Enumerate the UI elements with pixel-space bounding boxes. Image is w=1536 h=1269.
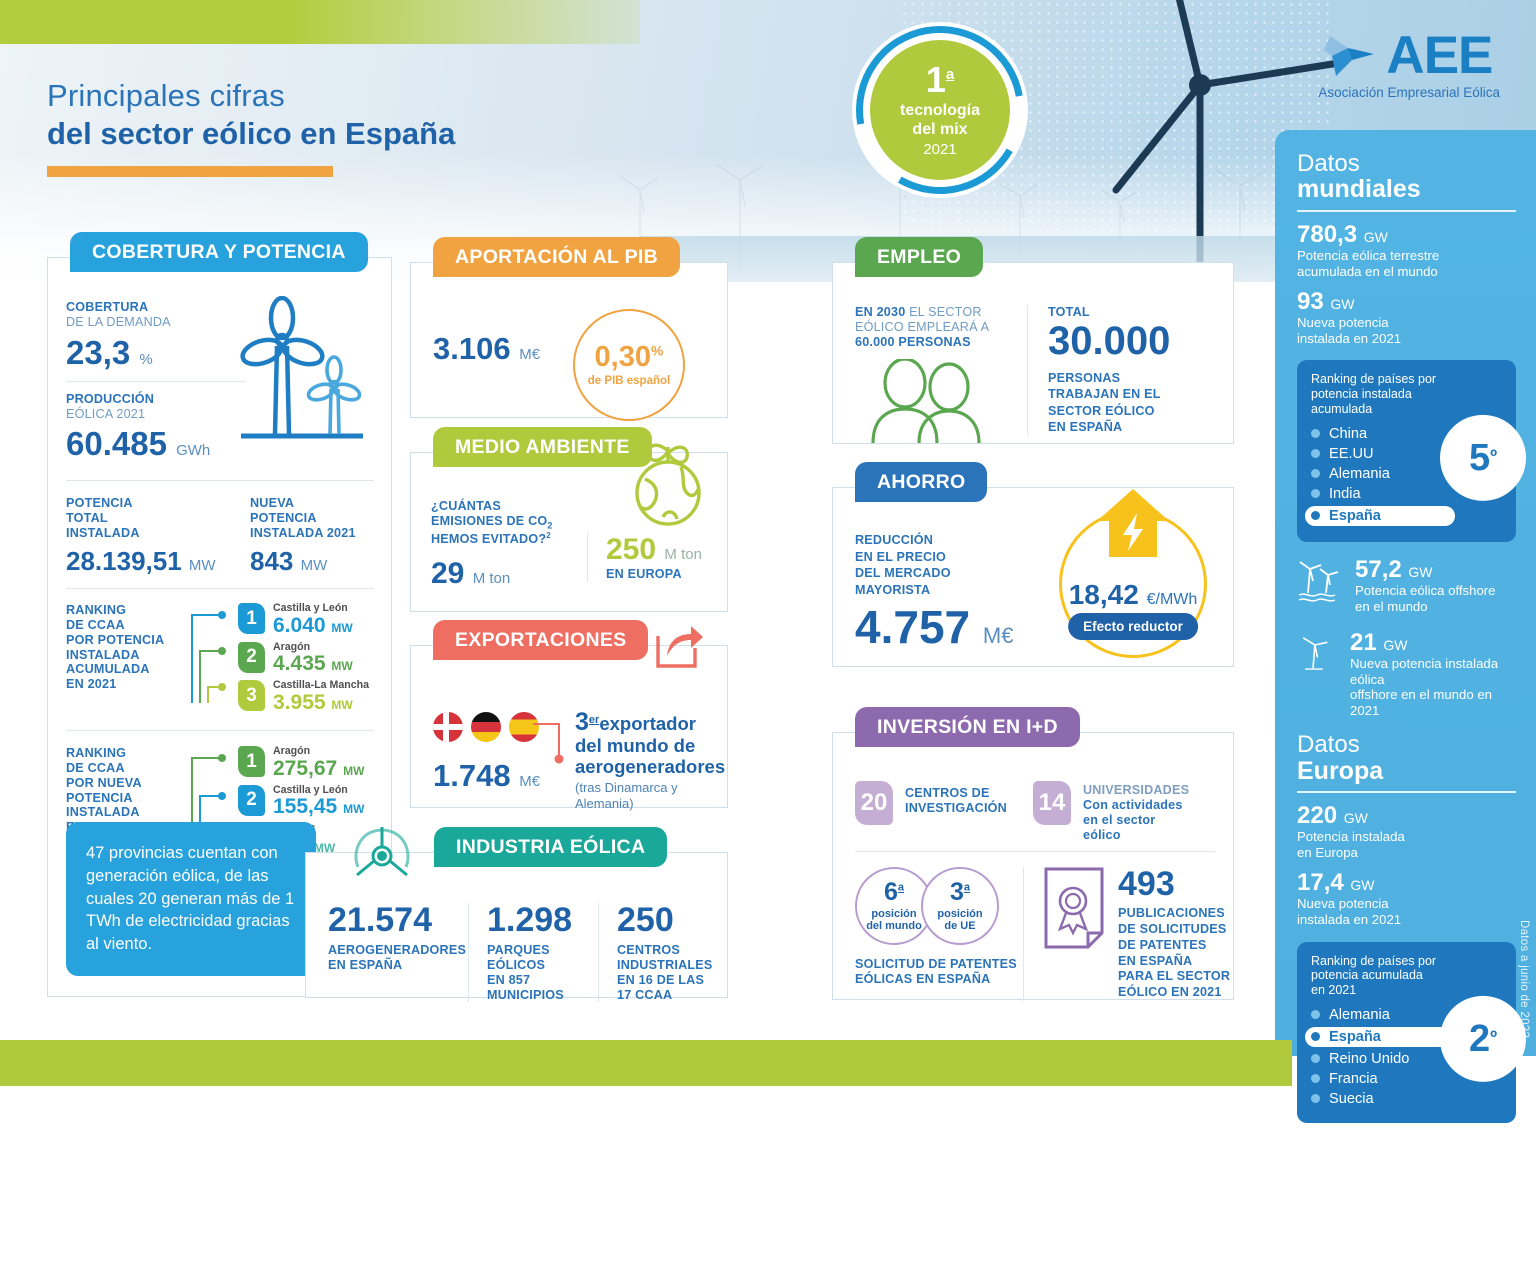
flags-row (433, 712, 539, 742)
bullet-dot-icon (1311, 469, 1320, 478)
rank-value: 4.435 MW (273, 653, 353, 675)
industria-label-2: PARQUES EÓLICOS EN 857 MUNICIPIOS (487, 943, 598, 1002)
title-line-1: Principales cifras (47, 78, 455, 114)
value-nueva-potencia: 843 MW (250, 548, 380, 574)
posicion-ue-text: posición de UE (937, 908, 982, 932)
rank-value: 3.955 MW (273, 692, 369, 714)
publicaciones-value: 493 (1118, 867, 1230, 901)
europa-stat-2-value: 17,4 GW (1297, 870, 1516, 895)
logo-text: AEE (1386, 32, 1492, 80)
europa-country-2-highlight: España (1305, 1027, 1455, 1047)
aee-mark-icon (1318, 30, 1380, 82)
mundial-ranking-title: Ranking de países por potencia instalada… (1311, 372, 1502, 416)
export-rank-text: 3erexportador del mundo de aerogenerador… (575, 708, 711, 777)
label-ranking-acumulada-light: POR POTENCIA INSTALADA ACUMULADA EN 2021 (66, 633, 176, 692)
empleo-total-value: 30.000 (1048, 320, 1217, 362)
divider (66, 588, 374, 589)
cobertura-demanda-bold: COBERTURA (66, 300, 148, 314)
mundial-offshore-1-text: Potencia eólica offshore en el mundo (1355, 583, 1496, 615)
rank-position: 1 (238, 746, 265, 777)
value-pib: 3.106 M€ (433, 333, 540, 364)
sidebar-europa-title-2: Europa (1297, 758, 1516, 784)
europa-ranking-title: Ranking de países por potencia acumulada… (1311, 954, 1502, 998)
card-ahorro: AHORRO REDUCCIÓN EN EL PRECIO DEL MERCAD… (832, 487, 1234, 667)
industria-label-1: AEROGENERADORES EN ESPAÑA (328, 943, 468, 973)
universidades-label: UNIVERSIDADES (1083, 783, 1189, 798)
mundial-offshore-2: 21 GW Nueva potencia instalada eólica of… (1297, 630, 1516, 720)
people-icon (863, 359, 993, 443)
mundial-ranking-box: Ranking de países por potencia instalada… (1297, 360, 1516, 541)
sidebar-mundiales-title-1: Datos (1297, 152, 1516, 176)
tab-medio-ambiente: MEDIO AMBIENTE (433, 427, 652, 467)
card-medio-ambiente: MEDIO AMBIENTE ¿CUÁNTAS EMISIONES DE CO2… (410, 452, 728, 612)
divider (1297, 210, 1516, 212)
patentes-caption: SOLICITUD DE PATENTES EÓLICAS EN ESPAÑA (855, 957, 1017, 987)
bullet-dot-icon (1311, 511, 1320, 520)
label-ranking-nueva-bold: RANKING DE CCAA (66, 746, 176, 776)
tab-empleo: EMPLEO (855, 237, 983, 277)
mundial-country-3: Alemania (1311, 466, 1502, 482)
offshore-turbines-icon (1297, 557, 1343, 603)
ranking-acumulada-list: 1 Castilla y León 6.040 MW 2 Aragón 4.43… (238, 603, 369, 719)
europa-offshore-2: 3,3 GW Nueva potencia instalada eólica o… (1297, 1211, 1516, 1269)
badge-line-2: del mix (900, 121, 980, 140)
export-rank-note: (tras Dinamarca y Alemania) (575, 780, 711, 811)
green-band (0, 0, 640, 44)
ahorro-circle-value: 18,42 €/MWh (1062, 579, 1204, 611)
rank-item: 2 Aragón 4.435 MW (238, 642, 369, 676)
divider (1297, 791, 1516, 793)
bottom-green-bar (0, 1040, 1292, 1086)
europa-stat-1-value: 220 GW (1297, 803, 1516, 828)
value-potencia-total: 28.139,51 MW (66, 548, 216, 574)
mundial-country-4: India (1311, 486, 1502, 502)
tab-ahorro: AHORRO (855, 462, 987, 502)
denmark-flag-icon (433, 712, 463, 742)
europa-country-3: Reino Unido (1311, 1051, 1502, 1067)
mundial-offshore-1: 57,2 GW Potencia eólica offshore en el m… (1297, 557, 1516, 615)
posicion-mundo-value: 6a (884, 880, 904, 905)
divider (66, 730, 374, 731)
badge-core: 1a tecnología del mix 2021 (870, 40, 1010, 180)
value-co2-evitado: 29 M ton (431, 559, 581, 589)
connector-lines-icon (186, 603, 228, 713)
label-potencia-total-bold: POTENCIA TOTAL (66, 496, 216, 526)
ahorro-value: 4.757 M€ (855, 604, 1013, 650)
europa-offshore-2-value: 3,3 GW (1355, 1211, 1505, 1236)
label-co2-europa: EN EUROPA (606, 567, 702, 582)
europa-country-4: Francia (1311, 1071, 1502, 1087)
card-industria-eolica: INDUSTRIA EÓLICA 21.574 AEROGENERADORES … (305, 852, 728, 998)
pib-percent-caption: de PIB español (588, 375, 670, 387)
value-exportaciones: 1.748 M€ (433, 760, 540, 791)
wind-turbines-illustration (233, 296, 369, 462)
value-co2-europa: 250 M ton (606, 533, 702, 567)
divider (66, 381, 246, 382)
posicion-ue-circle: 3a posición de UE (921, 867, 999, 945)
europa-offshore-1-value: 28,3 GW (1355, 1138, 1496, 1163)
rank-value: 275,67 MW (273, 758, 364, 780)
industria-label-3: CENTROS INDUSTRIALES EN 16 DE LAS 17 CCA… (617, 943, 718, 1002)
posicion-ue-value: 3a (950, 880, 970, 905)
empleo-total-label: TOTAL (1048, 305, 1217, 320)
ahorro-circle: 18,42 €/MWh Efecto reductor (1059, 510, 1207, 658)
bullet-dot-icon (1311, 429, 1320, 438)
card-inversion-id: INVERSIÓN EN I+D 20 CENTROS DE INVESTIGA… (832, 732, 1234, 1000)
efecto-reductor-pill: Efecto reductor (1068, 613, 1198, 640)
aee-logo: AEE Asociación Empresarial Eólica (1318, 30, 1500, 100)
industria-value-2: 1.298 (487, 903, 598, 937)
label-potencia-total-light: INSTALADA (66, 526, 216, 541)
bullet-dot-icon (1311, 489, 1320, 498)
offshore-turbines-icon (1297, 1138, 1343, 1184)
posicion-mundo-text: posición del mundo (866, 908, 922, 932)
value-cobertura-demanda: 23,3 % (66, 336, 246, 369)
ahorro-label: REDUCCIÓN EN EL PRECIO DEL MERCADO MAYOR… (855, 532, 951, 598)
sidebar-datos: Datos mundiales 780,3 GW Potencia eólica… (1275, 130, 1536, 1056)
value-produccion: 60.485 GWh (66, 427, 246, 460)
label-nueva-potencia-bold: NUEVA POTENCIA (250, 496, 380, 526)
co2-question-bold: ¿CUÁNTAS EMISIONES DE CO2 (431, 499, 581, 531)
turbine-icon (1297, 1211, 1343, 1257)
europa-country-1: Alemania (1311, 1007, 1502, 1023)
divider (66, 480, 374, 481)
mundial-offshore-2-text: Nueva potencia instalada eólica offshore… (1350, 656, 1516, 719)
export-share-icon (653, 622, 705, 670)
tab-inversion-id: INVERSIÓN EN I+D (855, 707, 1080, 747)
mundial-stat-2-text: Nueva potencia instalada en 2021 (1297, 315, 1516, 347)
rank-item: 3 Castilla-La Mancha 3.955 MW (238, 680, 369, 714)
tab-cobertura: COBERTURA Y POTENCIA (70, 232, 368, 272)
card-empleo: EMPLEO EN 2030 EL SECTOR EÓLICO EMPLEARÁ… (832, 262, 1234, 444)
connector-line-icon (533, 718, 567, 766)
empleo-note: EN 2030 EL SECTOR EÓLICO EMPLEARÁ A 60.0… (855, 305, 1013, 350)
sidebar-europa-title-1: Datos (1297, 733, 1516, 757)
bullet-dot-icon (1311, 449, 1320, 458)
rank-item: 1 Castilla y León 6.040 MW (238, 603, 369, 637)
label-ranking-acumulada-bold: RANKING DE CCAA (66, 603, 176, 633)
rank-value: 6.040 MW (273, 615, 353, 637)
badge-year: 2021 (923, 141, 956, 158)
badge-line-1: tecnología (900, 102, 980, 121)
note-provincias: 47 provincias cuentan con generación eól… (66, 822, 316, 976)
universidades-count: 14 (1033, 781, 1071, 825)
patent-certificate-icon (1042, 867, 1106, 951)
empleo-total-text: PERSONAS TRABAJAN EN EL SECTOR EÓLICO EN… (1048, 370, 1217, 435)
rank-position: 1 (238, 603, 265, 634)
mundial-country-5-highlight: España (1305, 506, 1455, 526)
produccion-light: EÓLICA 2021 (66, 407, 145, 421)
badge-text: tecnología del mix (900, 102, 980, 140)
logo-row: AEE (1318, 30, 1500, 82)
pib-percentage-circle: 0,30% de PIB español (573, 309, 685, 421)
europa-stat-2-text: Nueva potencia instalada en 2021 (1297, 896, 1516, 928)
rank-item: 1 Aragón 275,67 MW (238, 746, 364, 780)
sidebar-mundiales-title-2: mundiales (1297, 176, 1516, 202)
logo-tagline: Asociación Empresarial Eólica (1318, 85, 1500, 100)
mundial-offshore-2-value: 21 GW (1350, 630, 1516, 655)
bullet-dot-icon (1311, 1054, 1320, 1063)
earth-plant-icon (623, 431, 713, 531)
co2-question-light: HEMOS EVITADO?2 (431, 531, 581, 547)
centros-investigacion-count: 20 (855, 781, 893, 825)
mundial-stat-1-value: 780,3 GW (1297, 222, 1516, 247)
germany-flag-icon (471, 712, 501, 742)
centros-investigacion-label: CENTROS DE INVESTIGACIÓN (905, 786, 1007, 816)
title-underline (47, 166, 333, 177)
label-produccion: PRODUCCIÓN EÓLICA 2021 (66, 392, 246, 422)
badge-rank: 1a (926, 62, 954, 98)
rank-position: 2 (238, 785, 265, 816)
page-title: Principales cifras del sector eólico en … (47, 78, 455, 177)
turbine-icon (1297, 630, 1338, 676)
pib-percent: 0,30% (595, 343, 664, 372)
mundial-stat-2-value: 93 GW (1297, 289, 1516, 314)
bullet-dot-icon (1311, 1074, 1320, 1083)
tab-exportaciones: EXPORTACIONES (433, 620, 648, 660)
universidades-sub: Con actividades en el sector eólico (1083, 798, 1189, 843)
rank-position: 3 (238, 680, 265, 711)
house-lightning-icon (1095, 487, 1171, 559)
rank-item: 2 Castilla y León 155,45 MW (238, 785, 364, 819)
europa-offshore-2-text: Nueva potencia instalada eólica offshore… (1355, 1237, 1505, 1269)
bullet-dot-icon (1311, 1032, 1320, 1041)
card-aportacion-pib: APORTACIÓN AL PIB 3.106 M€ 0,30% de PIB … (410, 262, 728, 418)
europa-country-5: Suecia (1311, 1091, 1502, 1107)
europa-stat-1-text: Potencia instalada en Europa (1297, 829, 1516, 861)
rank-position: 2 (238, 642, 265, 673)
industria-value-3: 250 (617, 903, 718, 937)
tab-pib: APORTACIÓN AL PIB (433, 237, 680, 277)
rank-value: 155,45 MW (273, 796, 364, 818)
europa-ranking-box: Ranking de países por potencia acumulada… (1297, 942, 1516, 1123)
europa-offshore-1: 28,3 GW Potencia eólica offshore instala… (1297, 1138, 1516, 1196)
europa-offshore-1-text: Potencia eólica offshore instalada en Eu… (1355, 1164, 1496, 1196)
bullet-dot-icon (1311, 1094, 1320, 1103)
title-line-2: del sector eólico en España (47, 116, 455, 152)
bullet-dot-icon (1311, 1010, 1320, 1019)
mundial-country-2: EE.UU (1311, 446, 1502, 462)
produccion-bold: PRODUCCIÓN (66, 392, 154, 406)
tab-industria: INDUSTRIA EÓLICA (434, 827, 667, 867)
publicaciones-label: PUBLICACIONES DE SOLICITUDES DE PATENTES… (1118, 906, 1230, 1001)
industria-value-1: 21.574 (328, 903, 468, 937)
divider (855, 851, 1215, 852)
cobertura-demanda-light: DE LA DEMANDA (66, 315, 171, 329)
turbine-circular-icon (344, 821, 420, 891)
first-technology-badge: 1a tecnología del mix 2021 (852, 22, 1028, 198)
mundial-offshore-1-value: 57,2 GW (1355, 557, 1496, 582)
label-cobertura-demanda: COBERTURA DE LA DEMANDA (66, 300, 246, 330)
card-exportaciones: EXPORTACIONES 1.748 M€ 3erexportador del… (410, 645, 728, 808)
label-nueva-potencia-light: INSTALADA 2021 (250, 526, 380, 541)
mundial-country-1: China (1311, 426, 1502, 442)
mundial-stat-1-text: Potencia eólica terrestre acumulada en e… (1297, 248, 1516, 280)
